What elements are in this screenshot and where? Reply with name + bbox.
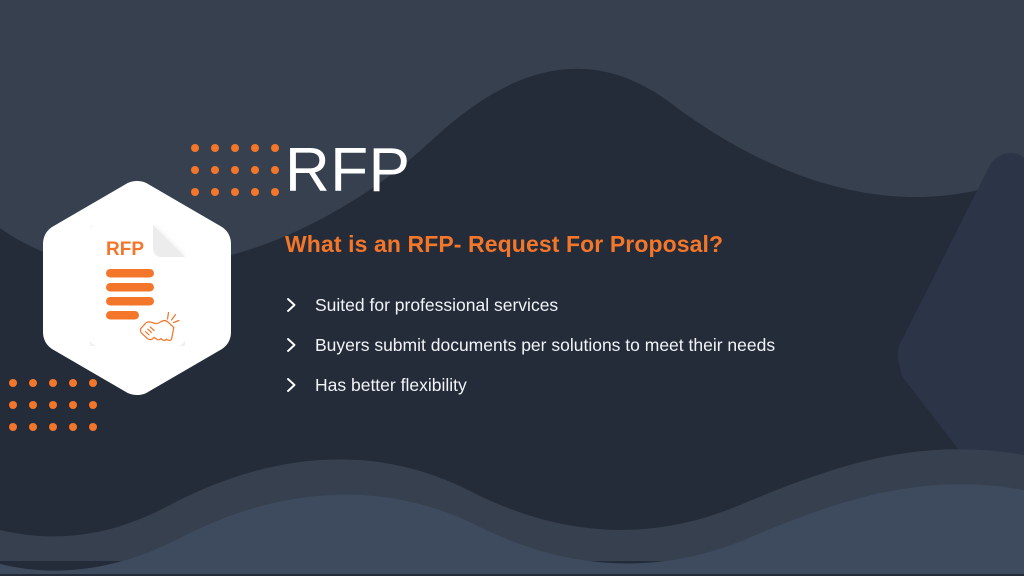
dot <box>231 166 239 174</box>
document-label: RFP <box>106 239 144 260</box>
dot <box>211 166 219 174</box>
dot <box>69 401 77 409</box>
dot <box>49 423 57 431</box>
rfp-badge: RFP <box>42 179 232 397</box>
dot <box>9 379 17 387</box>
dot <box>9 423 17 431</box>
rfp-document-icon: RFP <box>90 225 185 346</box>
wave-bottom-mid <box>0 449 1024 561</box>
bullet-list: Suited for professional services Buyers … <box>285 258 985 405</box>
document-line <box>106 269 154 278</box>
dot <box>231 188 239 196</box>
dot <box>251 144 259 152</box>
dot <box>271 144 279 152</box>
dot <box>29 379 37 387</box>
list-item-label: Suited for professional services <box>315 295 558 316</box>
document-line <box>106 283 154 292</box>
chevron-right-icon <box>285 296 315 314</box>
dot <box>211 144 219 152</box>
dot <box>251 166 259 174</box>
list-item-label: Buyers submit documents per solutions to… <box>315 335 775 356</box>
dot <box>251 188 259 196</box>
dot <box>191 144 199 152</box>
chevron-right-icon <box>285 376 315 394</box>
dot <box>271 188 279 196</box>
dot <box>89 423 97 431</box>
dot <box>231 144 239 152</box>
page-title: RFP <box>285 140 985 210</box>
dot <box>89 401 97 409</box>
dot <box>49 401 57 409</box>
document-line <box>106 297 154 306</box>
list-item: Has better flexibility <box>285 365 985 405</box>
slide-canvas: RFP <box>0 0 1024 576</box>
dot <box>9 401 17 409</box>
list-item: Buyers submit documents per solutions to… <box>285 325 985 365</box>
wave-bottom-light <box>0 484 1024 574</box>
list-item-label: Has better flexibility <box>315 375 467 396</box>
dot <box>271 166 279 174</box>
list-item: Suited for professional services <box>285 285 985 325</box>
section-subtitle: What is an RFP- Request For Proposal? <box>285 210 985 258</box>
dot <box>29 423 37 431</box>
dot <box>191 166 199 174</box>
dot <box>69 423 77 431</box>
document-line <box>106 311 139 320</box>
chevron-right-icon <box>285 336 315 354</box>
dot <box>29 401 37 409</box>
content-block: RFP What is an RFP- Request For Proposal… <box>285 140 985 405</box>
